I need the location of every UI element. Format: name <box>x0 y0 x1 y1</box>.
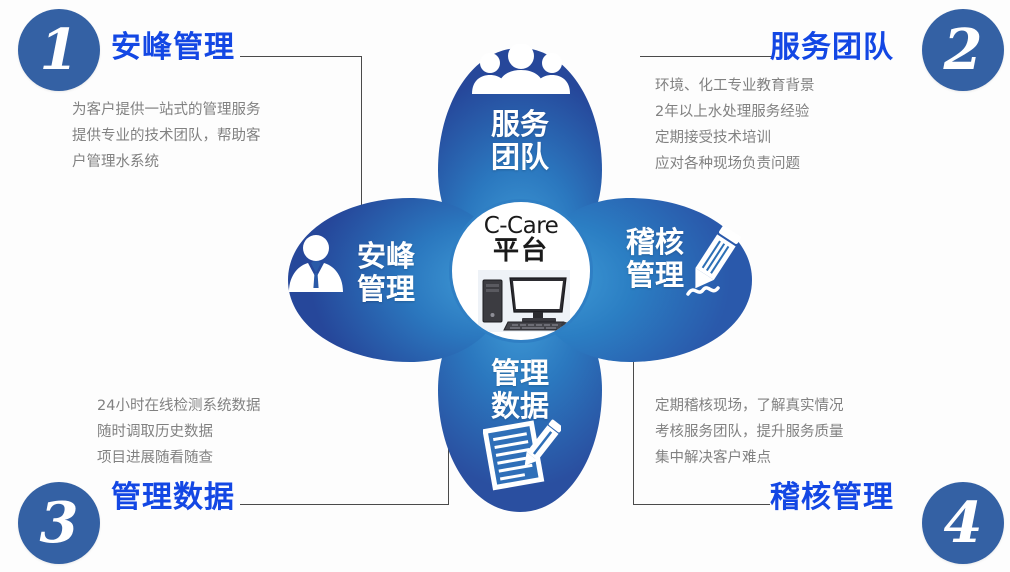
center-hub-text: C-Care 平台 <box>452 214 590 264</box>
section-body-3-line-2: 随时调取历史数据 <box>97 419 260 445</box>
center-hub-line-2: 平台 <box>452 239 590 264</box>
section-body-3-line-1: 24小时在线检测系统数据 <box>97 393 260 419</box>
section-body-1-line-2: 提供专业的技术团队，帮助客 <box>72 123 261 149</box>
section-title-3: 管理数据 <box>111 472 235 516</box>
number-badge-1: 1 <box>18 9 100 91</box>
section-body-3: 24小时在线检测系统数据 随时调取历史数据 项目进展随看随查 <box>97 393 260 471</box>
section-body-1-line-1: 为客户提供一站式的管理服务 <box>72 97 261 123</box>
center-hub: C-Care 平台 <box>449 199 593 343</box>
section-body-1: 为客户提供一站式的管理服务 提供专业的技术团队，帮助客 户管理水系统 <box>72 97 261 175</box>
section-body-1-line-3: 户管理水系统 <box>72 149 261 175</box>
number-badge-4-label: 4 <box>944 495 983 551</box>
number-badge-1-label: 1 <box>40 22 79 78</box>
number-badge-4: 4 <box>922 482 1004 564</box>
section-body-3-line-3: 项目进展随看随查 <box>97 445 260 471</box>
number-badge-2-label: 2 <box>944 22 983 78</box>
desktop-computer-icon <box>478 270 570 332</box>
number-badge-3-label: 3 <box>40 495 79 551</box>
number-badge-3: 3 <box>18 482 100 564</box>
number-badge-2: 2 <box>922 9 1004 91</box>
infographic-canvas: 1 2 3 4 安峰管理 服务团队 管理数据 稽核管理 为客户提供一站式的管理服… <box>0 0 1010 572</box>
section-title-1: 安峰管理 <box>111 22 235 66</box>
